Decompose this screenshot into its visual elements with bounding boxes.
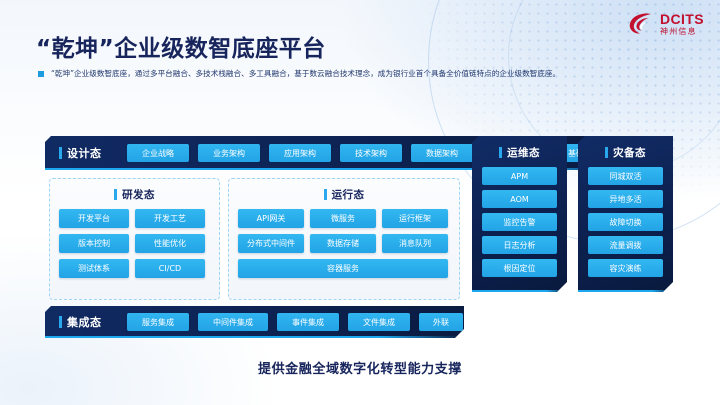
cell-runtime-2[interactable]: 运行框架 bbox=[382, 209, 448, 228]
cell-dr-2[interactable]: 故障切换 bbox=[588, 213, 663, 231]
accent-tick-icon bbox=[59, 147, 62, 159]
cell-dr-3[interactable]: 流量调拨 bbox=[588, 236, 663, 254]
design-state-label: 设计态 bbox=[67, 145, 102, 161]
chip-design-1[interactable]: 业务架构 bbox=[198, 144, 260, 162]
dr-state-list: 同城双活 异地多活 故障切换 流量调拨 容灾演练 bbox=[578, 167, 673, 277]
cell-runtime-0[interactable]: API网关 bbox=[238, 209, 304, 228]
runtime-state-header: 运行态 bbox=[229, 187, 459, 202]
page-title: “乾坤”企业级数智底座平台 bbox=[36, 29, 326, 63]
runtime-state-grid: API网关 微服务 运行框架 分布式中间件 数据存储 消息队列 容器服务 bbox=[229, 209, 459, 278]
cell-runtime-1[interactable]: 微服务 bbox=[310, 209, 376, 228]
chip-design-2[interactable]: 应用架构 bbox=[269, 144, 331, 162]
cell-dr-1[interactable]: 异地多活 bbox=[588, 190, 663, 208]
bullet-square-icon bbox=[38, 71, 44, 77]
swoosh-logo-icon bbox=[628, 11, 655, 36]
logo-text-cn: 神州信息 bbox=[660, 28, 704, 36]
ops-state-column: 运维态 APM AOM 监控告警 日志分析 根因定位 bbox=[472, 136, 567, 292]
cell-rd-5[interactable]: CI/CD bbox=[135, 259, 205, 278]
cell-ops-2[interactable]: 监控告警 bbox=[482, 213, 557, 231]
chip-integration-3[interactable]: 文件集成 bbox=[348, 313, 410, 331]
chip-design-0[interactable]: 企业战略 bbox=[127, 144, 189, 162]
accent-tick-icon bbox=[114, 189, 117, 200]
dr-state-header: 灾备态 bbox=[578, 145, 673, 160]
ops-state-header: 运维态 bbox=[472, 145, 567, 160]
chip-integration-2[interactable]: 事件集成 bbox=[277, 313, 339, 331]
cell-rd-0[interactable]: 开发平台 bbox=[59, 209, 129, 228]
accent-tick-icon bbox=[605, 147, 608, 158]
accent-tick-icon bbox=[59, 316, 62, 328]
integration-state-label: 集成态 bbox=[67, 314, 102, 330]
ops-state-label: 运维态 bbox=[507, 145, 540, 160]
cell-ops-1[interactable]: AOM bbox=[482, 190, 557, 208]
cell-ops-3[interactable]: 日志分析 bbox=[482, 236, 557, 254]
dr-state-label: 灾备态 bbox=[613, 145, 646, 160]
integration-state-bar: 集成态 服务集成 中间件集成 事件集成 文件集成 外联 bbox=[45, 306, 464, 338]
cell-dr-4[interactable]: 容灾演练 bbox=[588, 259, 663, 277]
chip-integration-0[interactable]: 服务集成 bbox=[127, 313, 189, 331]
architecture-diagram: 设计态 企业战略 业务架构 应用架构 技术架构 数据架构 安全架构 基础设施架构… bbox=[45, 136, 685, 342]
dr-state-column: 灾备态 同城双活 异地多活 故障切换 流量调拨 容灾演练 bbox=[578, 136, 673, 292]
cell-runtime-3[interactable]: 分布式中间件 bbox=[238, 234, 304, 253]
cell-ops-0[interactable]: APM bbox=[482, 167, 557, 185]
integration-state-header: 集成态 bbox=[45, 314, 127, 330]
chip-integration-1[interactable]: 中间件集成 bbox=[198, 313, 268, 331]
logo-text-en: DCITS bbox=[660, 12, 704, 26]
integration-state-chip-row: 服务集成 中间件集成 事件集成 文件集成 外联 bbox=[127, 313, 463, 331]
chip-design-4[interactable]: 数据架构 bbox=[411, 144, 473, 162]
rd-state-grid: 开发平台 开发工艺 版本控制 性能优化 测试体系 CI/CD bbox=[50, 209, 219, 278]
subtitle-text: “乾坤”企业级数智底座，通过多平台融合、多技术栈融合、多工具融合，基于数云融合技… bbox=[51, 69, 560, 79]
ops-state-list: APM AOM 监控告警 日志分析 根因定位 bbox=[472, 167, 567, 277]
runtime-state-panel: 运行态 API网关 微服务 运行框架 分布式中间件 数据存储 消息队列 容器服务 bbox=[228, 178, 460, 300]
rd-state-header: 研发态 bbox=[50, 187, 219, 202]
cell-runtime-container-service[interactable]: 容器服务 bbox=[238, 259, 448, 278]
accent-tick-icon bbox=[499, 147, 502, 158]
cell-rd-4[interactable]: 测试体系 bbox=[59, 259, 129, 278]
subtitle-bullet-row: “乾坤”企业级数智底座，通过多平台融合、多技术栈融合、多工具融合，基于数云融合技… bbox=[38, 69, 560, 79]
cell-rd-1[interactable]: 开发工艺 bbox=[135, 209, 205, 228]
cell-dr-0[interactable]: 同城双活 bbox=[588, 167, 663, 185]
rd-state-panel: 研发态 开发平台 开发工艺 版本控制 性能优化 测试体系 CI/CD bbox=[49, 178, 220, 300]
cell-ops-4[interactable]: 根因定位 bbox=[482, 259, 557, 277]
chip-design-3[interactable]: 技术架构 bbox=[340, 144, 402, 162]
runtime-state-label: 运行态 bbox=[332, 187, 365, 202]
rd-state-label: 研发态 bbox=[122, 187, 155, 202]
footer-caption: 提供金融全域数字化转型能力支撑 bbox=[0, 358, 720, 377]
accent-tick-icon bbox=[324, 189, 327, 200]
design-state-header: 设计态 bbox=[45, 145, 127, 161]
cell-runtime-4[interactable]: 数据存储 bbox=[310, 234, 376, 253]
cell-rd-3[interactable]: 性能优化 bbox=[135, 234, 205, 253]
chip-integration-4[interactable]: 外联 bbox=[419, 313, 463, 331]
cell-runtime-5[interactable]: 消息队列 bbox=[382, 234, 448, 253]
cell-rd-2[interactable]: 版本控制 bbox=[59, 234, 129, 253]
brand-logo: DCITS 神州信息 bbox=[628, 11, 704, 36]
